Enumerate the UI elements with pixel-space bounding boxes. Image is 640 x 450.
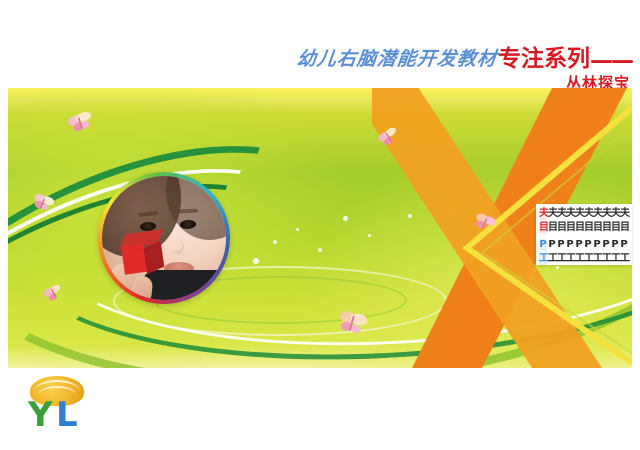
glyph-cell: 夫 xyxy=(602,208,610,220)
glyph-cell: 目 xyxy=(584,222,592,234)
headline-dash: —— xyxy=(590,48,632,74)
glyph-cell: P xyxy=(620,239,628,251)
glyph-cell: 工 xyxy=(539,253,547,265)
sparkle-dot xyxy=(273,240,277,244)
glyph-cell: 夫 xyxy=(593,208,601,220)
glyph-cell: 目 xyxy=(593,222,601,234)
glyph-row: 工 工 工 工 工 工 工 工 工 工 xyxy=(539,252,629,265)
glyph-cell: 目 xyxy=(557,222,565,234)
glyph-row: 夫 夫 夫 夫 夫 夫 夫 夫 夫 夫 xyxy=(539,207,629,220)
nose xyxy=(170,238,184,254)
cube-side-face xyxy=(144,241,165,274)
glyph-cell: 夫 xyxy=(548,208,556,220)
glyph-cell: P xyxy=(539,239,547,251)
glyph-cell: 目 xyxy=(611,222,619,234)
headline-main: 幼儿右脑潜能开发教材 xyxy=(296,48,498,70)
headline-row: 幼儿右脑潜能开发教材专注系列—— xyxy=(0,48,640,92)
glyph-cell: 夫 xyxy=(557,208,565,220)
photo-circle-frame xyxy=(98,172,230,304)
butterfly-icon xyxy=(68,112,94,134)
shirt xyxy=(142,270,226,300)
glyph-cell: 目 xyxy=(620,222,628,234)
glyph-cell: 夫 xyxy=(539,208,547,220)
glyph-cell: 目 xyxy=(539,222,547,234)
glyph-cell: 工 xyxy=(566,253,574,265)
glyph-cell: P xyxy=(611,239,619,251)
logo-letter-y: Y xyxy=(28,398,53,432)
sparkle-dot xyxy=(368,234,371,237)
glyph-cell: 夫 xyxy=(611,208,619,220)
butterfly-icon xyxy=(44,284,64,302)
glyph-cell: P xyxy=(548,239,556,251)
glyph-group-red: 夫 夫 夫 夫 夫 夫 夫 夫 夫 夫 目 目 目 目 目 目 目 目 目 xyxy=(539,207,629,234)
red-cube-block xyxy=(119,229,166,274)
glyph-cell: P xyxy=(575,239,583,251)
glyph-cell: 目 xyxy=(566,222,574,234)
glyph-cell: 工 xyxy=(548,253,556,265)
glyph-cell: 目 xyxy=(575,222,583,234)
child-holding-red-cube-photo xyxy=(102,176,226,300)
sparkle-dot xyxy=(253,258,259,264)
glyph-cell: 目 xyxy=(548,222,556,234)
glyph-cell: P xyxy=(602,239,610,251)
footer-bar: Y L 引领右脑 学轻松教育 引领右脑 引领右脑 专业右脑潜能开发连锁机构 引领… xyxy=(0,372,640,450)
glyph-cell: 夫 xyxy=(566,208,574,220)
glyph-cell: P xyxy=(593,239,601,251)
glyph-cell: P xyxy=(584,239,592,251)
glyph-cell: P xyxy=(557,239,565,251)
butterfly-icon xyxy=(378,128,400,146)
glyph-cell: 工 xyxy=(584,253,592,265)
glyph-cell: P xyxy=(566,239,574,251)
butterfly-icon xyxy=(473,213,497,233)
sparkle-dot xyxy=(318,248,322,252)
glyph-row: 目 目 目 目 目 目 目 目 目 目 xyxy=(539,221,629,234)
butterfly-icon xyxy=(32,193,54,213)
glyph-row: P P P P P P P P P P xyxy=(539,238,629,251)
glyph-puzzle-card: 夫 夫 夫 夫 夫 夫 夫 夫 夫 夫 目 目 目 目 目 目 目 目 目 xyxy=(536,204,632,265)
butterfly-icon xyxy=(338,310,368,336)
glyph-cell: 目 xyxy=(602,222,610,234)
glyph-cell: 夫 xyxy=(584,208,592,220)
glyph-cell: 夫 xyxy=(620,208,628,220)
glyph-cell: 工 xyxy=(557,253,565,265)
finger-index xyxy=(131,275,154,300)
glyph-group-blue: P P P P P P P P P P 工 工 工 工 工 工 工 工 工 xyxy=(539,238,629,265)
headline-accent: 专注系列 xyxy=(498,48,590,70)
glyph-cell: 工 xyxy=(620,253,628,265)
poster-canvas: 幼儿右脑潜能开发教材专注系列—— 丛林探宝 xyxy=(0,0,640,450)
company-logo: Y L xyxy=(18,376,96,438)
sparkle-dot xyxy=(296,228,299,231)
glyph-cell: 工 xyxy=(575,253,583,265)
glyph-cell: 工 xyxy=(593,253,601,265)
sparkle-dot xyxy=(343,216,348,221)
glyph-cell: 工 xyxy=(611,253,619,265)
glyph-cell: 夫 xyxy=(575,208,583,220)
glyph-cell: 工 xyxy=(602,253,610,265)
logo-letter-l: L xyxy=(56,398,78,432)
